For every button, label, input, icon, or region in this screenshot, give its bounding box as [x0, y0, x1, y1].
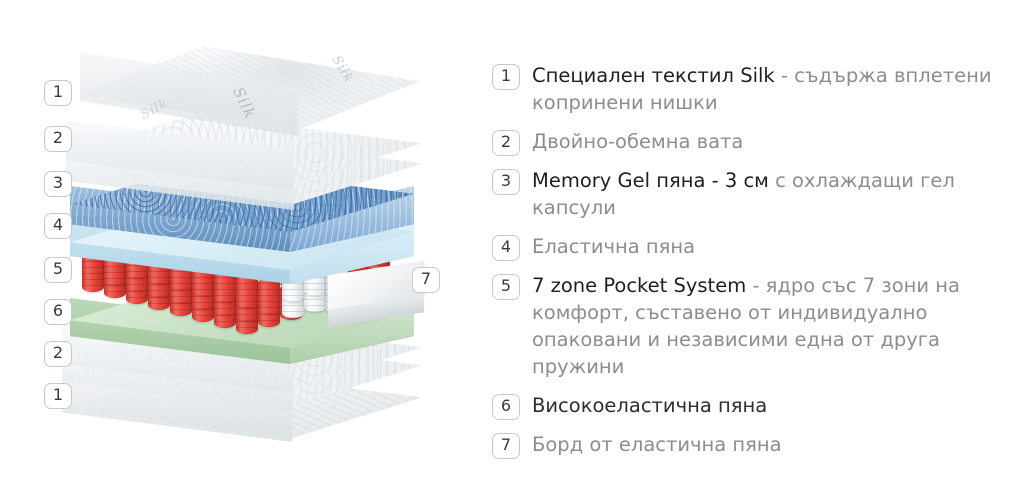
- legend-rest-6: Високоеластична пяна: [532, 394, 767, 417]
- mattress-layers-infographic: Silk Silk Silk 1 2 3 4 5 6 2 1 7 1 Специ…: [0, 0, 1020, 495]
- legend-badge-6[interactable]: 6: [492, 394, 520, 420]
- legend-text-1: Специален текстил Silk - съдържа вплетен…: [532, 62, 1012, 116]
- diagram-badge-5[interactable]: 5: [44, 257, 72, 283]
- legend-item-6: 6 Високоеластична пяна: [492, 392, 1012, 419]
- legend-item-3: 3 Memory Gel пяна - 3 см с охлаждащи гел…: [492, 167, 1012, 221]
- legend-badge-7[interactable]: 7: [492, 433, 520, 459]
- legend-text-7: Борд от еластична пяна: [532, 431, 1012, 458]
- diagram-badge-7[interactable]: 7: [412, 267, 440, 293]
- legend-strong-5: 7 zone Pocket System: [532, 274, 746, 297]
- legend-strong-3: Memory Gel пяна - 3 см: [532, 169, 769, 192]
- diagram-badge-column: 1 2 3 4 5 6 2 1: [44, 0, 78, 495]
- legend-badge-1[interactable]: 1: [492, 64, 520, 90]
- legend-rest-4: Еластична пяна: [532, 235, 695, 258]
- diagram-badge-4[interactable]: 4: [44, 213, 72, 239]
- diagram-badge-2-bottom[interactable]: 2: [44, 341, 72, 367]
- legend-rest-7: Борд от еластична пяна: [532, 433, 782, 456]
- legend-badge-3[interactable]: 3: [492, 169, 520, 195]
- diagram-badge-1-top[interactable]: 1: [44, 80, 72, 106]
- legend-item-4: 4 Еластична пяна: [492, 233, 1012, 260]
- legend-badge-5[interactable]: 5: [492, 274, 520, 300]
- legend-badge-4[interactable]: 4: [492, 235, 520, 261]
- legend-item-5: 5 7 zone Pocket System - ядро със 7 зони…: [492, 272, 1012, 380]
- diagram-badge-2-top[interactable]: 2: [44, 126, 72, 152]
- legend-text-6: Високоеластична пяна: [532, 392, 1012, 419]
- legend-badge-2[interactable]: 2: [492, 130, 520, 156]
- legend-item-7: 7 Борд от еластична пяна: [492, 431, 1012, 458]
- legend-strong-1: Специален текстил Silk: [532, 64, 775, 87]
- legend-list: 1 Специален текстил Silk - съдържа вплет…: [492, 62, 1012, 470]
- legend-rest-2: Двойно-обемна вата: [532, 130, 743, 153]
- diagram-badge-6[interactable]: 6: [44, 299, 72, 325]
- legend-text-2: Двойно-обемна вата: [532, 128, 1012, 155]
- diagram-badge-1-bottom[interactable]: 1: [44, 383, 72, 409]
- mattress-cutaway-diagram: Silk Silk Silk 1 2 3 4 5 6 2 1 7: [0, 0, 470, 495]
- legend-text-5: 7 zone Pocket System - ядро със 7 зони н…: [532, 272, 1012, 380]
- layer-top-silk-textile: Silk Silk Silk: [80, 42, 420, 134]
- diagram-badge-3[interactable]: 3: [44, 171, 72, 197]
- legend-item-2: 2 Двойно-обемна вата: [492, 128, 1012, 155]
- legend-item-1: 1 Специален текстил Silk - съдържа вплет…: [492, 62, 1012, 116]
- legend-text-3: Memory Gel пяна - 3 см с охлаждащи гел к…: [532, 167, 1012, 221]
- legend-text-4: Еластична пяна: [532, 233, 1012, 260]
